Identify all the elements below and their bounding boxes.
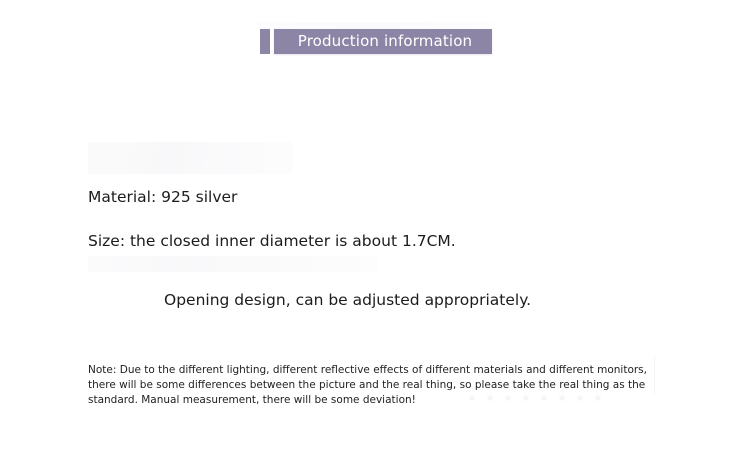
background-artifact-upper-block (88, 142, 293, 174)
background-artifact-mid-line (88, 256, 378, 272)
note-line-3: standard. Manual measurement, there will… (88, 393, 644, 408)
disclaimer-note-block: Note: Due to the different lighting, dif… (88, 363, 644, 409)
banner-accent-tab (260, 29, 270, 54)
product-information-page: Production information Material: 925 sil… (0, 0, 750, 461)
spec-material-text: Material: 925 silver (88, 188, 237, 207)
note-line-1: Note: Due to the different lighting, dif… (88, 363, 644, 378)
background-artifact-vertical-rule (654, 356, 655, 394)
banner-bar: Production information (274, 29, 492, 54)
spec-size-text: Size: the closed inner diameter is about… (88, 232, 456, 251)
section-header-banner: Production information (260, 29, 492, 54)
spec-opening-design-text: Opening design, can be adjusted appropri… (164, 291, 531, 310)
note-line-2: there will be some differences between t… (88, 378, 644, 393)
banner-title-text: Production information (294, 34, 472, 49)
